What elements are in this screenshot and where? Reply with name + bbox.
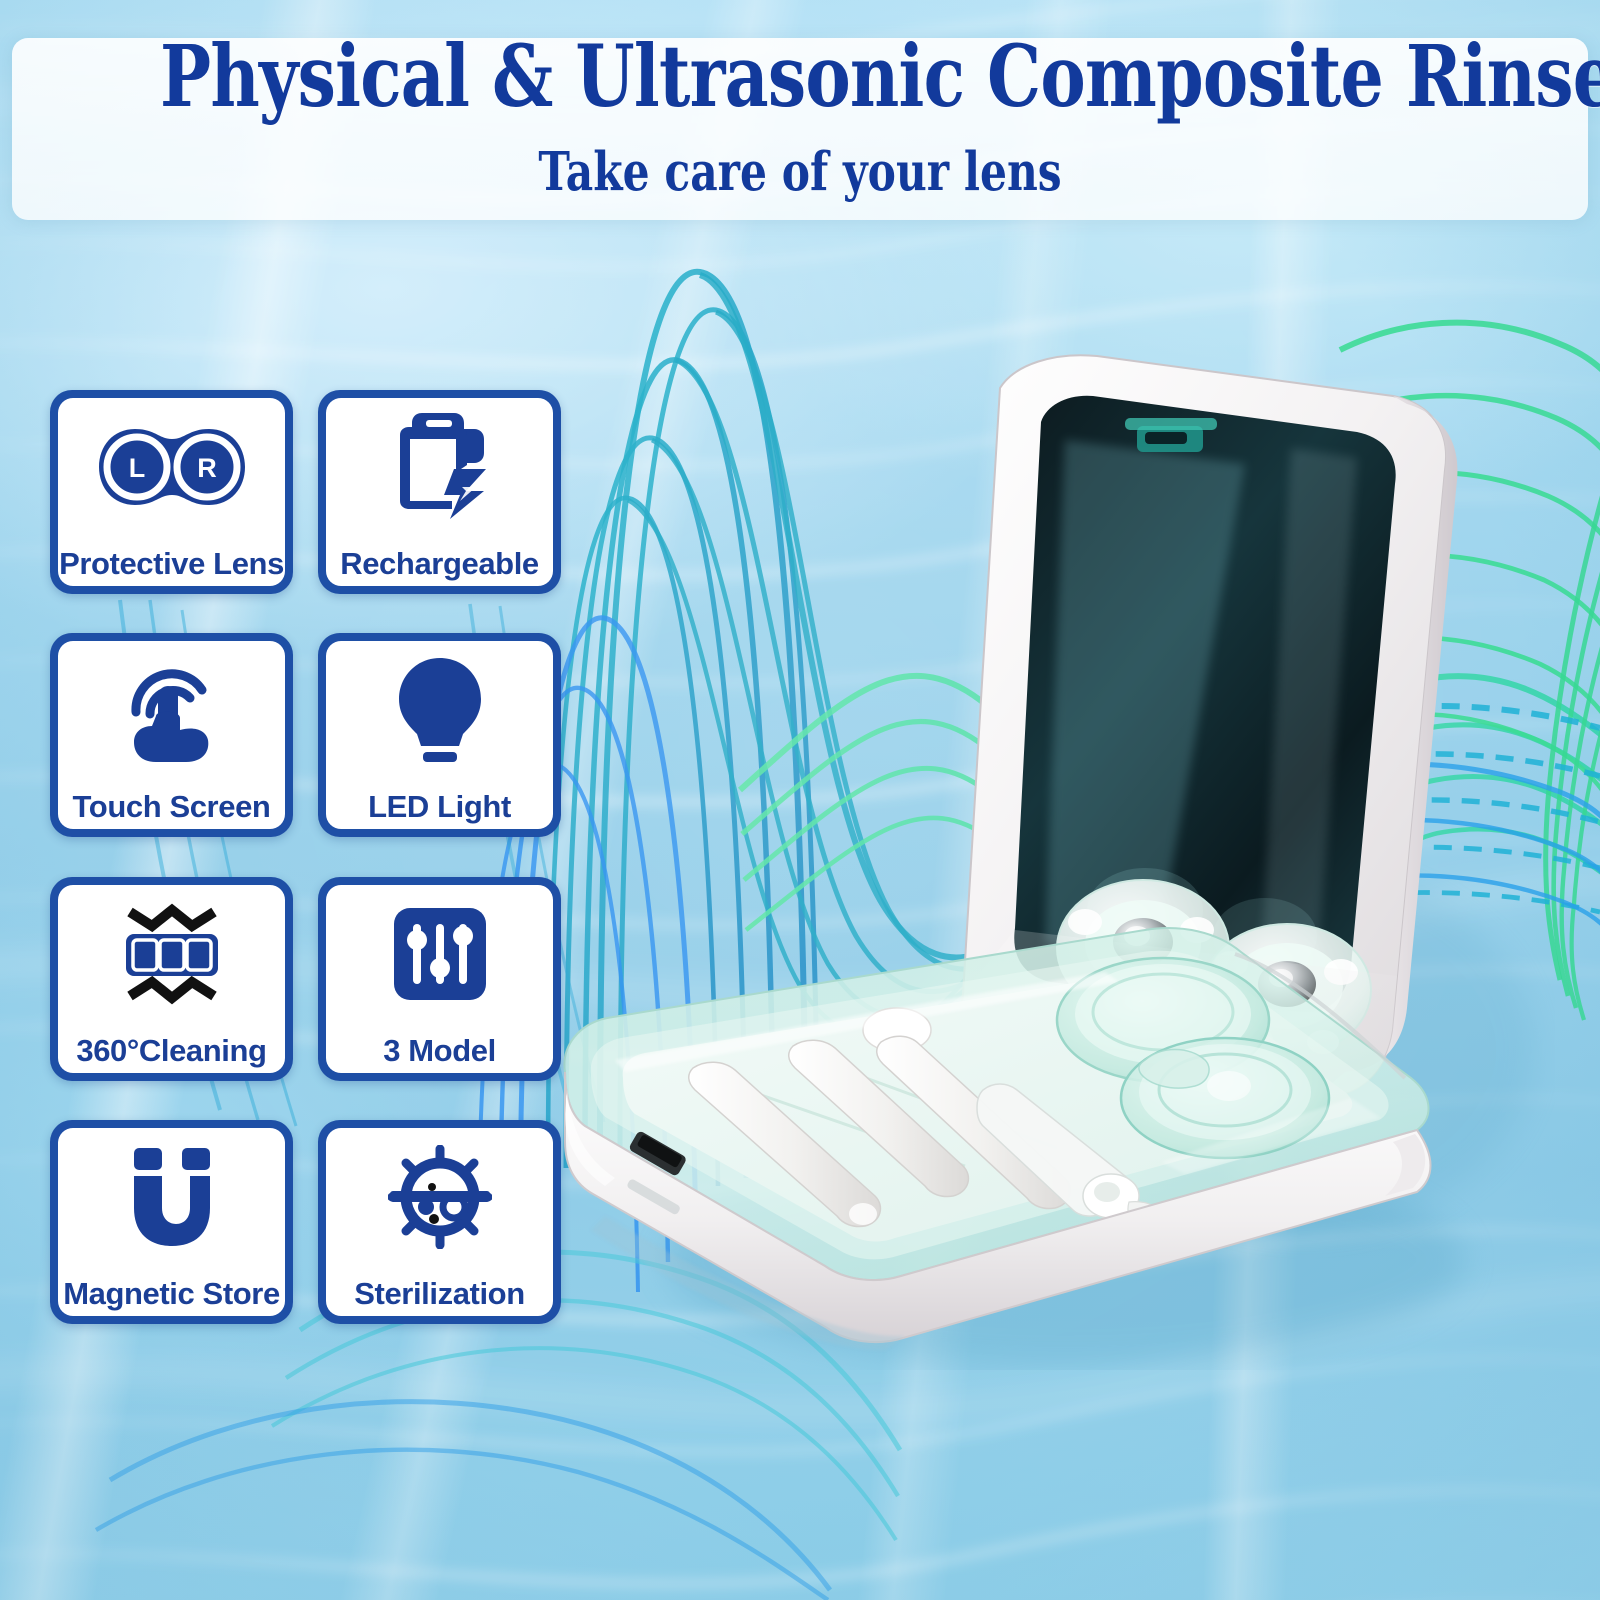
feature-card-360-cleaning[interactable]: 360°Cleaning: [50, 877, 293, 1081]
feature-label: 360°Cleaning: [46, 1035, 297, 1067]
feature-card-led-light[interactable]: LED Light: [318, 633, 561, 837]
lens-case-lr-icon: L R: [58, 412, 285, 522]
feature-label: Sterilization: [314, 1278, 565, 1310]
card-body: Sterilization: [326, 1128, 553, 1316]
feature-card-grid: L R Protective Lens: [50, 390, 562, 1365]
feature-label: 3 Model: [314, 1035, 565, 1067]
light-bulb-icon: [326, 655, 553, 765]
lens-label-right: R: [197, 453, 217, 483]
feature-card-3-model[interactable]: 3 Model: [318, 877, 561, 1081]
horseshoe-magnet-icon: [58, 1142, 285, 1252]
touch-finger-icon: [58, 655, 285, 765]
card-body: Rechargeable: [326, 398, 553, 586]
feature-label: Touch Screen: [46, 791, 297, 823]
feature-card-magnetic-store[interactable]: Magnetic Store: [50, 1120, 293, 1324]
card-body: LED Light: [326, 641, 553, 829]
feature-label: LED Light: [314, 791, 565, 823]
slider-settings-icon: [326, 899, 553, 1009]
card-body: 360°Cleaning: [58, 885, 285, 1073]
page-subtitle: Take care of your lens: [160, 146, 1440, 199]
page-title: Physical & Ultrasonic Composite Rinse: [160, 36, 1440, 119]
card-body: L R Protective Lens: [58, 398, 285, 586]
card-body: 3 Model: [326, 885, 553, 1073]
card-body: Touch Screen: [58, 641, 285, 829]
feature-card-rechargeable[interactable]: Rechargeable: [318, 390, 561, 594]
germ-sterilize-icon: [326, 1142, 553, 1252]
battery-charging-icon: [326, 412, 553, 522]
lens-label-left: L: [128, 453, 145, 483]
product-image: [545, 330, 1555, 1370]
feature-label: Protective Lens: [46, 548, 297, 580]
feature-card-protective-lens[interactable]: L R Protective Lens: [50, 390, 293, 594]
card-body: Magnetic Store: [58, 1128, 285, 1316]
feature-card-touch-screen[interactable]: Touch Screen: [50, 633, 293, 837]
ultrasonic-waves-icon: [58, 899, 285, 1009]
feature-card-sterilization[interactable]: Sterilization: [318, 1120, 561, 1324]
feature-label: Magnetic Store: [46, 1278, 297, 1310]
poster-canvas: Physical & Ultrasonic Composite Rinse Ta…: [0, 0, 1600, 1600]
feature-label: Rechargeable: [314, 548, 565, 580]
